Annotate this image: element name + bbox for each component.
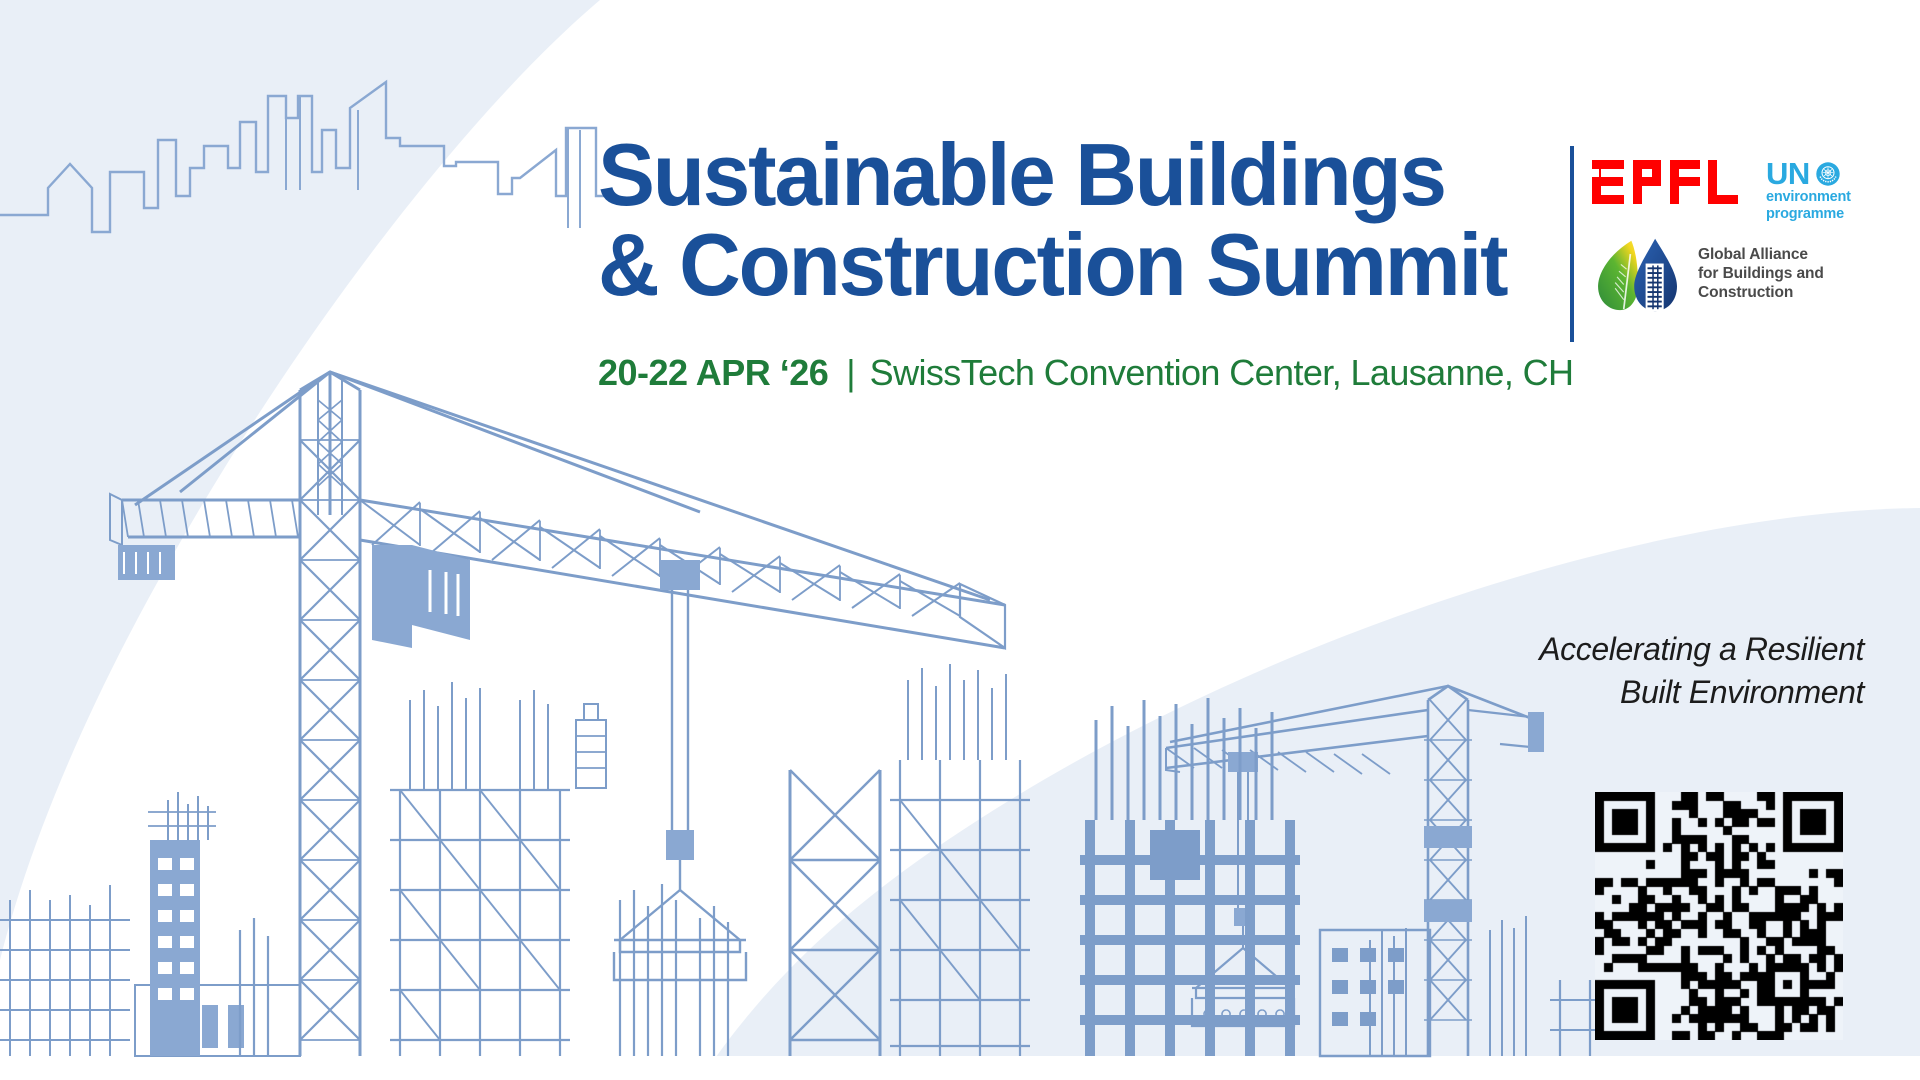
page-title: Sustainable Buildings & Construction Sum… [598,132,1558,308]
event-meta-line: 20-22 APR ‘26 | SwissTech Convention Cen… [598,352,1573,394]
un-globe-emblem [1815,161,1841,187]
tagline-line-2: Built Environment [1539,671,1864,714]
globalabc-line-3: Construction [1698,283,1824,302]
event-banner: Sustainable Buildings & Construction Sum… [0,0,1920,1080]
unep-line-1: environment [1766,189,1884,206]
unep-logo: UN environment programme [1766,158,1884,223]
event-tagline: Accelerating a Resilient Built Environme… [1539,628,1864,714]
unep-wordmark: UN [1766,158,1884,189]
event-date: 20-22 APR ‘26 [598,352,828,394]
unep-un-text: UN [1766,158,1810,189]
globalabc-text: Global Alliance for Buildings and Constr… [1698,245,1824,303]
globalabc-logo: Global Alliance for Buildings and Constr… [1592,235,1892,313]
globalabc-line-2: for Buildings and [1698,264,1824,283]
title-logo-divider [1570,146,1574,342]
tagline-line-1: Accelerating a Resilient [1539,628,1864,671]
epfl-logo [1592,158,1740,206]
event-venue: SwissTech Convention Center, Lausanne, C… [870,352,1574,394]
globalabc-leaf-droplet-mark [1592,235,1684,313]
title-line-2: & Construction Summit [598,222,1529,308]
unep-line-2: programme [1766,206,1884,223]
title-line-1: Sustainable Buildings [598,132,1529,218]
logo-row-top: UN environment programme [1592,158,1892,223]
logo-group: UN environment programme [1592,158,1892,313]
meta-separator: | [846,352,855,394]
globalabc-line-1: Global Alliance [1698,245,1824,264]
qr-code-canvas[interactable] [1595,792,1843,1040]
qr-code[interactable] [1595,792,1843,1040]
